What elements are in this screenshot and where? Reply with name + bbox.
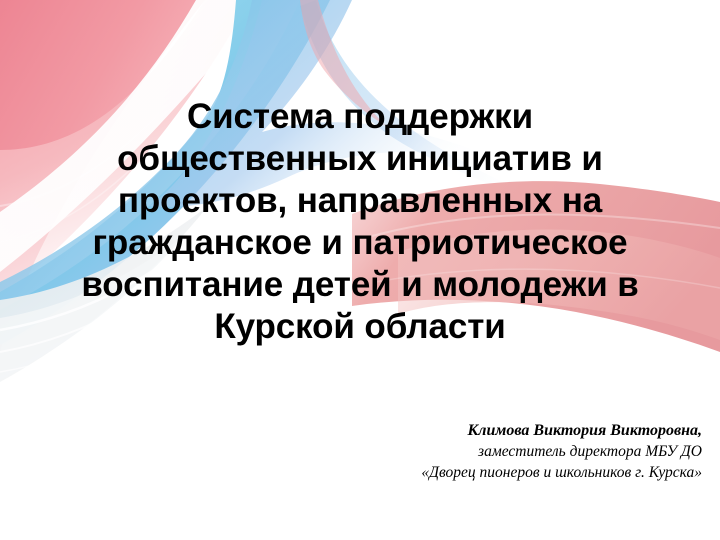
title-slide: Система поддержки общественных инициатив… xyxy=(0,0,720,540)
slide-content: Система поддержки общественных инициатив… xyxy=(0,0,720,540)
title-line: общественных инициатив и xyxy=(18,138,702,180)
page-title: Система поддержки общественных инициатив… xyxy=(18,96,702,348)
author-organization: «Дворец пионеров и школьников г. Курска» xyxy=(282,462,702,483)
author-name: Климова Виктория Викторовна, xyxy=(282,420,702,441)
title-line: проектов, направленных на xyxy=(18,180,702,222)
author-role: заместитель директора МБУ ДО xyxy=(282,441,702,462)
title-line: воспитание детей и молодежи в xyxy=(18,264,702,306)
title-line: гражданское и патриотическое xyxy=(18,222,702,264)
title-line: Система поддержки xyxy=(18,96,702,138)
author-block: Климова Виктория Викторовна, заместитель… xyxy=(282,420,702,483)
title-line: Курской области xyxy=(18,306,702,348)
